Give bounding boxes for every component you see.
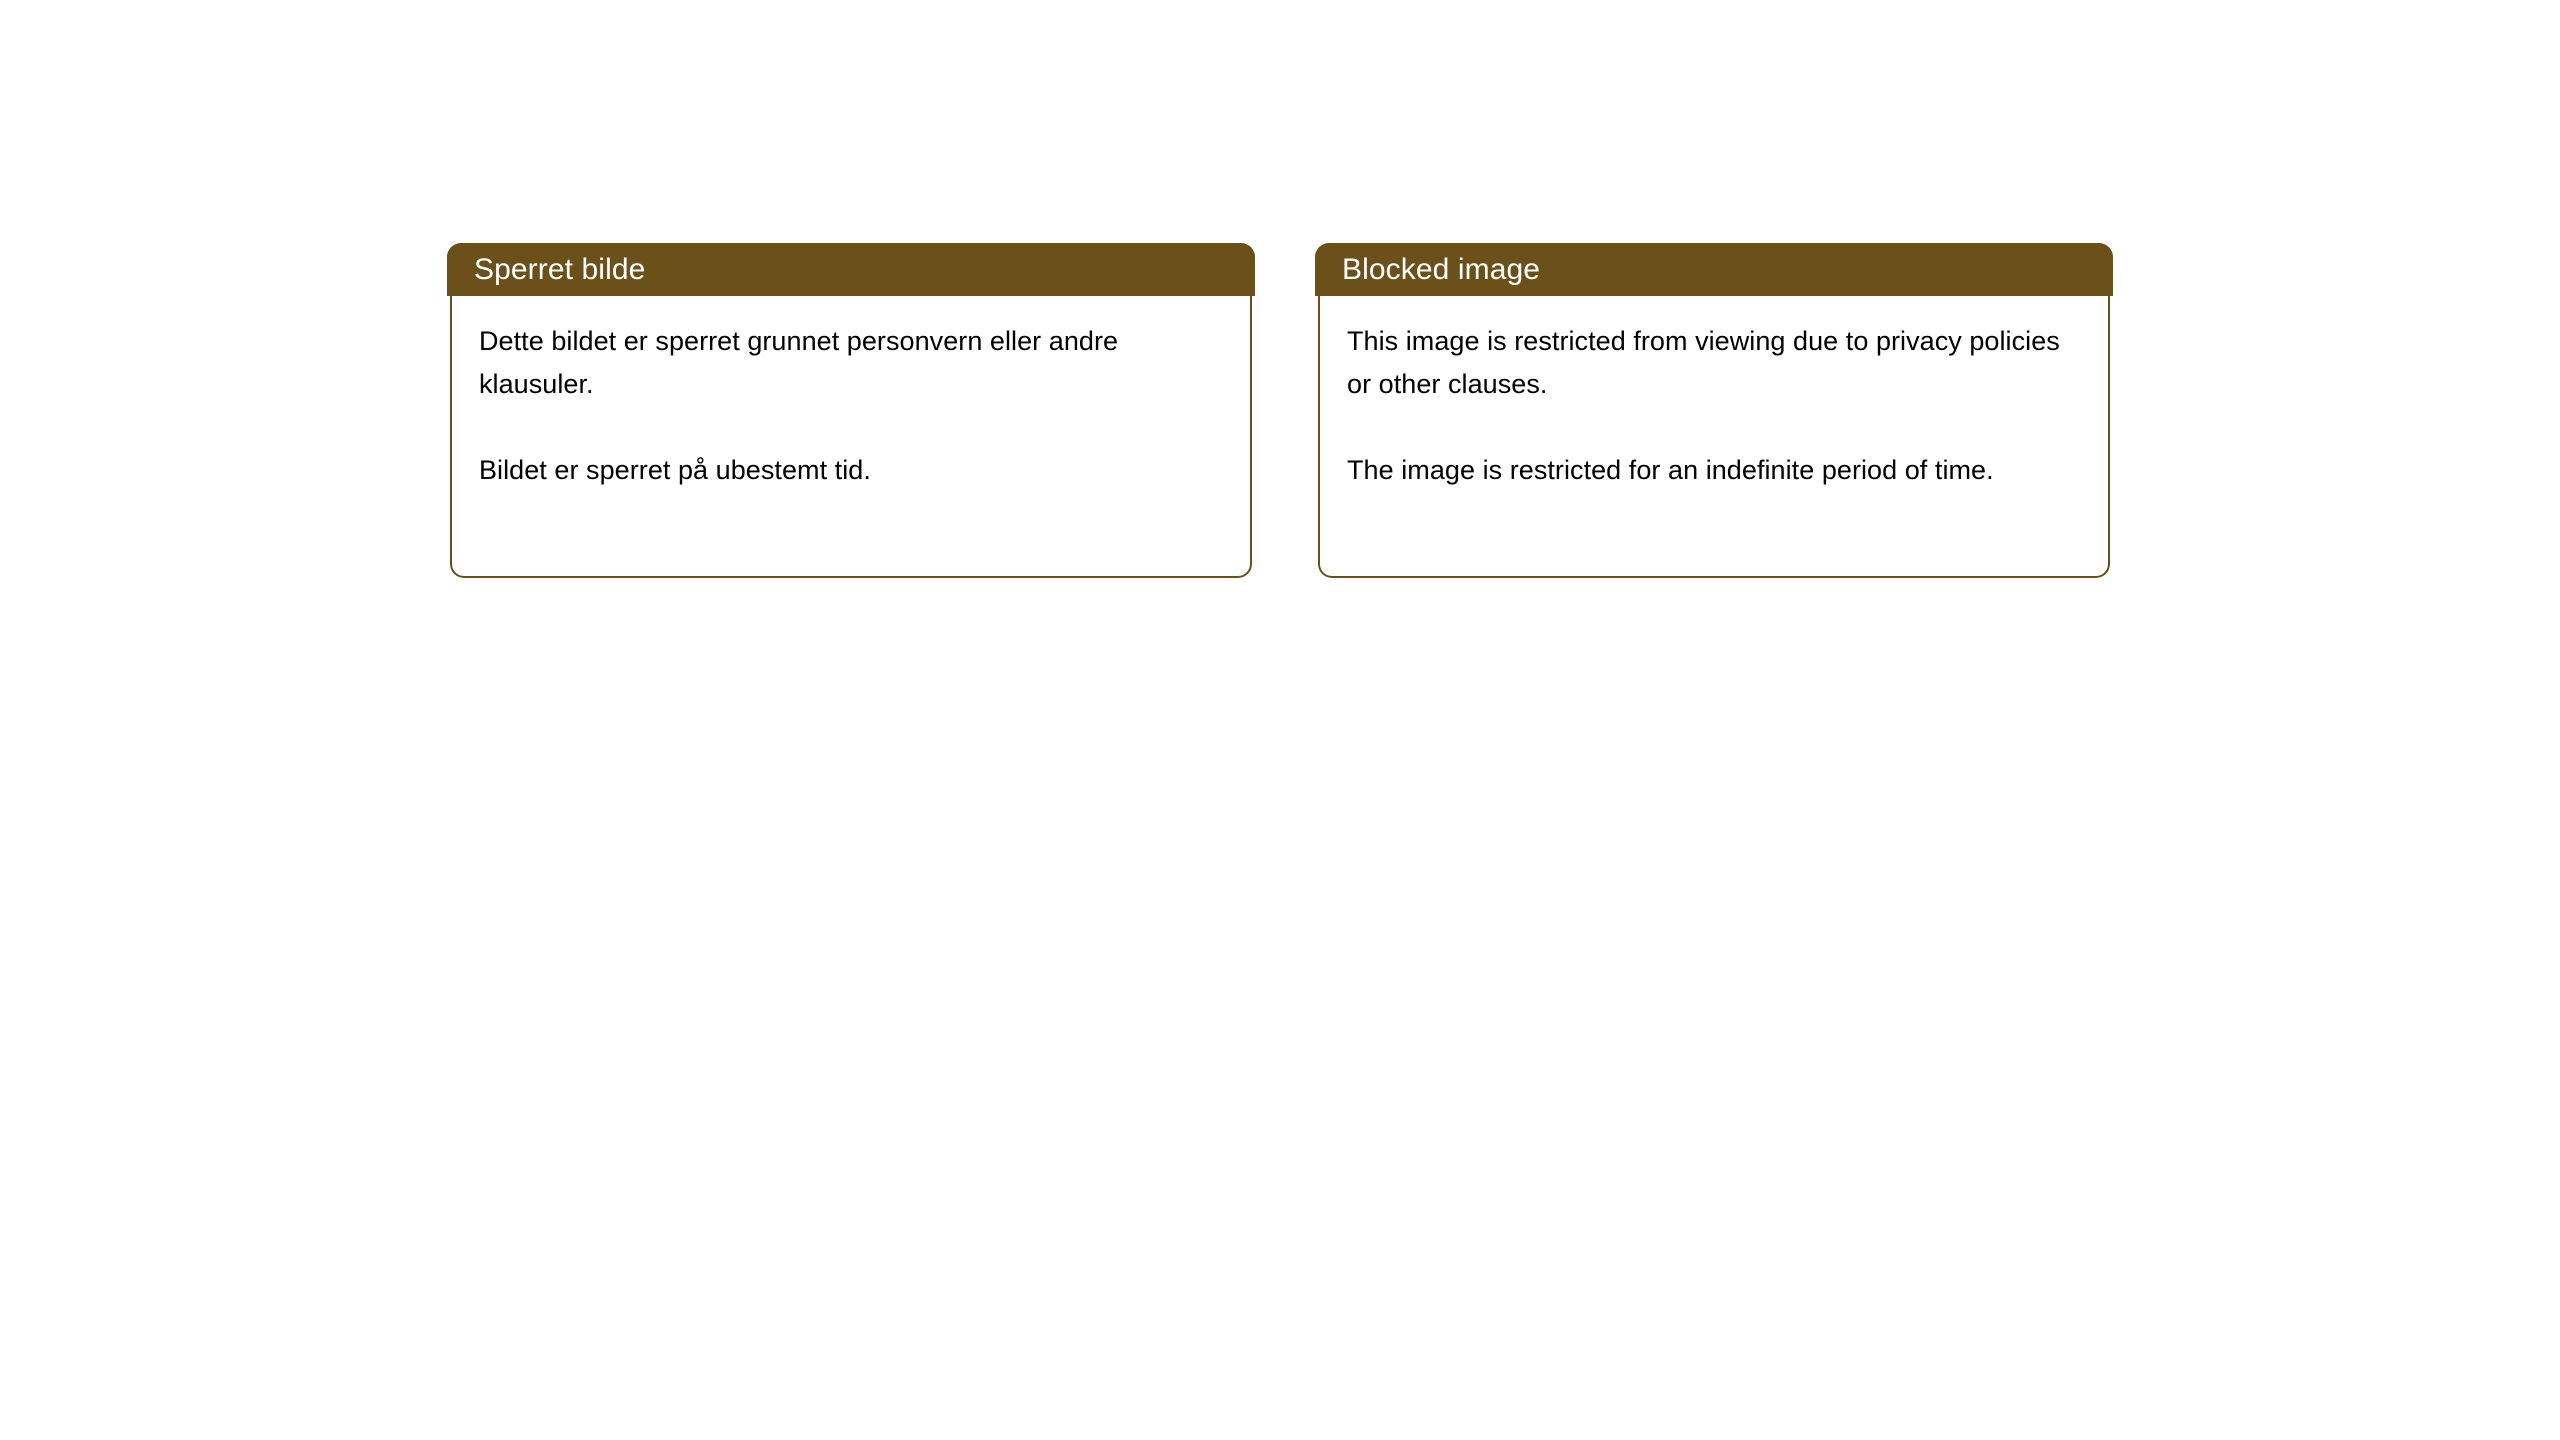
paragraph-spacer [1347, 406, 2088, 449]
notice-paragraph-primary-norwegian: Dette bildet er sperret grunnet personve… [479, 320, 1230, 406]
blocked-image-notice-norwegian: Sperret bilde Dette bildet er sperret gr… [450, 243, 1252, 578]
panel-body-norwegian: Dette bildet er sperret grunnet personve… [450, 296, 1252, 578]
panel-title-norwegian: Sperret bilde [474, 253, 645, 287]
panel-header-english: Blocked image [1315, 243, 2113, 296]
blocked-image-notice-english: Blocked image This image is restricted f… [1318, 243, 2110, 578]
paragraph-spacer [479, 406, 1230, 449]
panel-title-english: Blocked image [1342, 253, 1540, 287]
page-canvas: Sperret bilde Dette bildet er sperret gr… [0, 0, 2560, 1440]
panel-body-english: This image is restricted from viewing du… [1318, 296, 2110, 578]
panel-header-norwegian: Sperret bilde [447, 243, 1255, 296]
notice-paragraph-primary-english: This image is restricted from viewing du… [1347, 320, 2088, 406]
notice-paragraph-secondary-norwegian: Bildet er sperret på ubestemt tid. [479, 449, 1230, 492]
notice-paragraph-secondary-english: The image is restricted for an indefinit… [1347, 449, 2088, 492]
